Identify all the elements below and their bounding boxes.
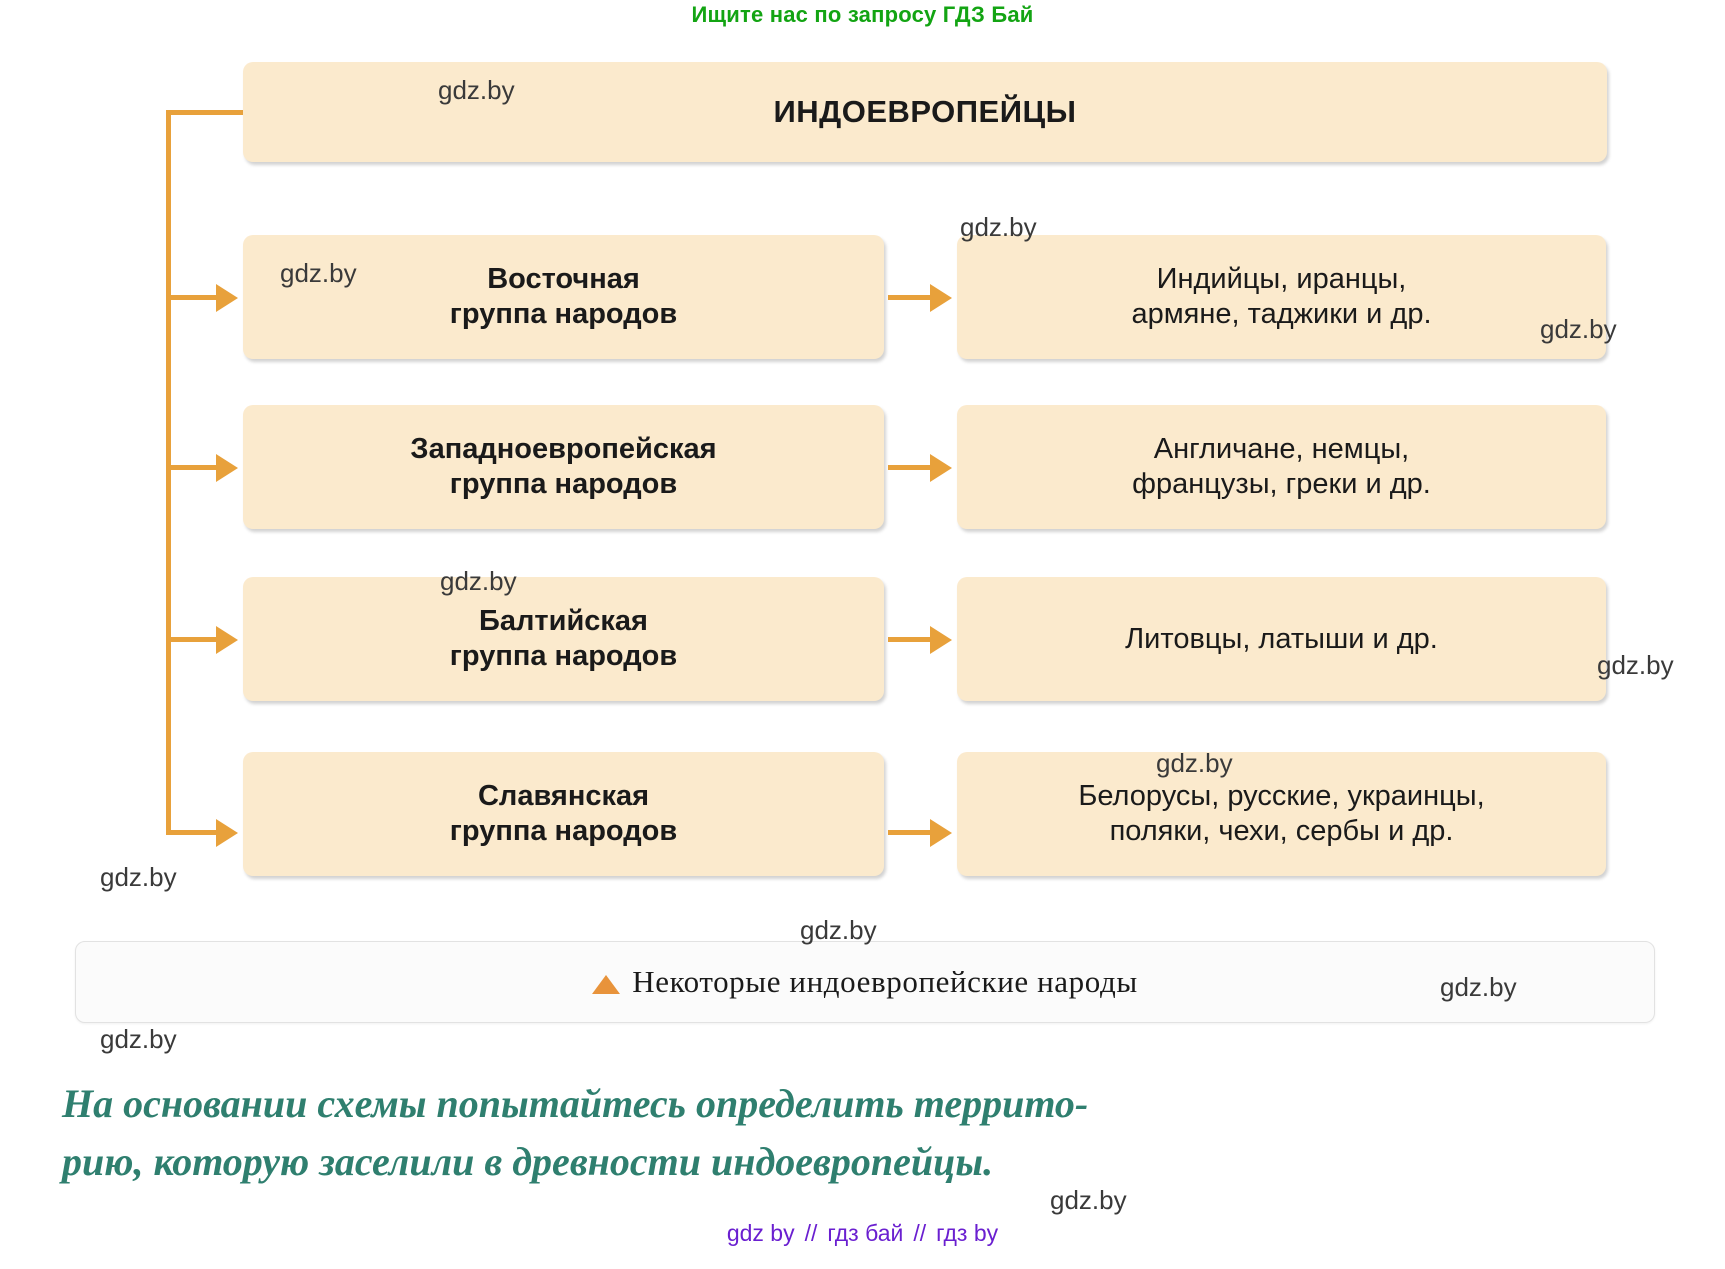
node-peoples-eastern-label: Индийцы, иранцы, армяне, таджики и др. — [967, 262, 1596, 332]
connector-branch-slavic — [166, 830, 218, 835]
node-group-west-european-line2: группа народов — [450, 468, 677, 500]
node-group-eastern-line2: группа народов — [450, 298, 677, 330]
footer-sep-1: // — [805, 1220, 818, 1246]
node-group-baltic-label: Балтийская группа народов — [253, 604, 874, 674]
footer-links: gdz by//гдз бай//гдз by — [0, 1220, 1725, 1247]
connector-trunk-top — [166, 110, 246, 115]
node-group-slavic-label: Славянская группа народов — [253, 779, 874, 849]
node-group-baltic-line2: группа народов — [450, 640, 677, 672]
watermark-5: gdz.by — [1597, 650, 1674, 681]
arrow-branch-east-icon — [216, 284, 238, 312]
node-peoples-slavic-line1: Белорусы, русские, украинцы, — [1078, 780, 1484, 812]
node-group-west-european: Западноевропейская группа народов — [243, 405, 884, 529]
task-text: На основании схемы попытайтесь определит… — [62, 1075, 1672, 1191]
node-peoples-west-european-label: Англичане, немцы, французы, греки и др. — [967, 432, 1596, 502]
connector-baltic-to-peoples — [888, 637, 932, 642]
promo-banner: Ищите нас по запросу ГДЗ Бай — [0, 2, 1725, 28]
connector-branch-baltic — [166, 637, 218, 642]
node-group-baltic-line1: Балтийская — [479, 605, 648, 637]
node-peoples-eastern-line1: Индийцы, иранцы, — [1157, 263, 1407, 295]
watermark-10: gdz.by — [100, 1024, 177, 1055]
node-group-slavic-line1: Славянская — [478, 780, 649, 812]
task-line-2: рию, которую заселили в древности индоев… — [62, 1133, 1672, 1191]
connector-west-to-peoples — [888, 465, 932, 470]
node-group-slavic: Славянская группа народов — [243, 752, 884, 876]
task-line-1: На основании схемы попытайтесь определит… — [62, 1081, 1088, 1126]
figure-caption-text: Некоторые индоевропейские народы — [632, 964, 1138, 1000]
node-group-eastern-line1: Восточная — [487, 263, 640, 295]
connector-branch-west — [166, 465, 218, 470]
node-peoples-slavic-label: Белорусы, русские, украинцы, поляки, чех… — [967, 779, 1596, 849]
node-peoples-west-european: Англичане, немцы, французы, греки и др. — [957, 405, 1606, 529]
node-peoples-eastern: Индийцы, иранцы, армяне, таджики и др. — [957, 235, 1606, 359]
watermark-7: gdz.by — [100, 862, 177, 893]
footer-link-1[interactable]: gdz by — [727, 1220, 795, 1246]
arrow-slavic-peoples-icon — [930, 819, 952, 847]
footer-sep-2: // — [913, 1220, 926, 1246]
node-root-label: ИНДОЕВРОПЕЙЦЫ — [253, 93, 1597, 130]
connector-slavic-to-peoples — [888, 830, 932, 835]
triangle-marker-icon — [592, 975, 620, 994]
footer-link-2[interactable]: гдз бай — [827, 1220, 903, 1246]
connector-east-to-peoples — [888, 295, 932, 300]
node-peoples-baltic-label: Литовцы, латыши и др. — [967, 622, 1596, 657]
footer-link-3[interactable]: гдз by — [936, 1220, 998, 1246]
figure-caption-bar: Некоторые индоевропейские народы — [75, 941, 1655, 1023]
node-peoples-west-european-line2: французы, греки и др. — [1132, 468, 1431, 500]
node-peoples-baltic: Литовцы, латыши и др. — [957, 577, 1606, 701]
arrow-branch-west-icon — [216, 454, 238, 482]
node-group-baltic: Балтийская группа народов — [243, 577, 884, 701]
node-group-eastern: Восточная группа народов — [243, 235, 884, 359]
connector-branch-east — [166, 295, 218, 300]
arrow-east-peoples-icon — [930, 284, 952, 312]
node-group-slavic-line2: группа народов — [450, 815, 677, 847]
node-group-west-european-line1: Западноевропейская — [410, 433, 716, 465]
node-peoples-slavic-line2: поляки, чехи, сербы и др. — [1110, 815, 1454, 847]
node-root: ИНДОЕВРОПЕЙЦЫ — [243, 62, 1607, 162]
diagram-page: Ищите нас по запросу ГДЗ Бай ИНДОЕВРОПЕЙ… — [0, 0, 1725, 1269]
arrow-west-peoples-icon — [930, 454, 952, 482]
node-peoples-slavic: Белорусы, русские, украинцы, поляки, чех… — [957, 752, 1606, 876]
node-group-eastern-label: Восточная группа народов — [253, 262, 874, 332]
node-peoples-west-european-line1: Англичане, немцы, — [1154, 433, 1410, 465]
connector-trunk-vertical — [166, 110, 171, 834]
arrow-baltic-peoples-icon — [930, 626, 952, 654]
node-peoples-eastern-line2: армяне, таджики и др. — [1131, 298, 1431, 330]
arrow-branch-slavic-icon — [216, 819, 238, 847]
arrow-branch-baltic-icon — [216, 626, 238, 654]
node-group-west-european-label: Западноевропейская группа народов — [253, 432, 874, 502]
